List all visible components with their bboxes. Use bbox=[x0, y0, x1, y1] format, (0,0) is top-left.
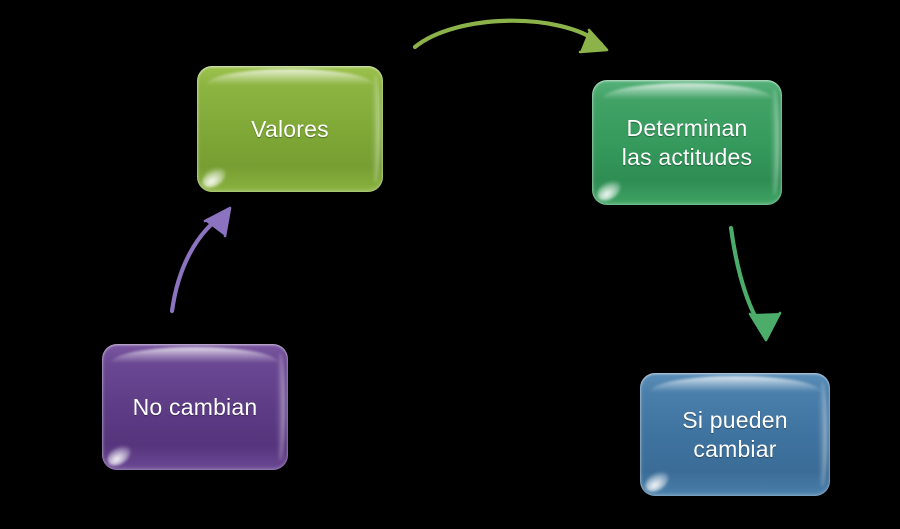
node-valores[interactable]: Valores bbox=[197, 66, 383, 192]
corner-glint bbox=[593, 176, 624, 205]
edge-sheen bbox=[818, 382, 827, 487]
edge-sheen bbox=[770, 89, 779, 196]
node-si-pueden-cambiar[interactable]: Si pueden cambiar bbox=[640, 373, 830, 496]
diagram-canvas: Valores Determinan las actitudes No camb… bbox=[0, 0, 900, 529]
node-valores-label: Valores bbox=[241, 115, 339, 143]
node-no-cambian[interactable]: No cambian bbox=[102, 344, 288, 470]
node-si-pueden-cambiar-label: Si pueden cambiar bbox=[672, 406, 797, 462]
edge-sheen bbox=[276, 353, 285, 461]
node-determinan-las-actitudes-label: Determinan las actitudes bbox=[612, 114, 762, 170]
arrow-determinan-to-si-pueden bbox=[731, 228, 780, 340]
arrow-valores-to-determinan bbox=[415, 21, 607, 52]
arrow-no-cambian-to-valores bbox=[172, 208, 230, 311]
node-determinan-las-actitudes[interactable]: Determinan las actitudes bbox=[592, 80, 782, 205]
node-no-cambian-label: No cambian bbox=[123, 393, 268, 421]
corner-glint bbox=[641, 467, 672, 496]
corner-glint bbox=[103, 441, 134, 470]
corner-glint bbox=[198, 163, 229, 192]
edge-sheen bbox=[371, 75, 380, 183]
